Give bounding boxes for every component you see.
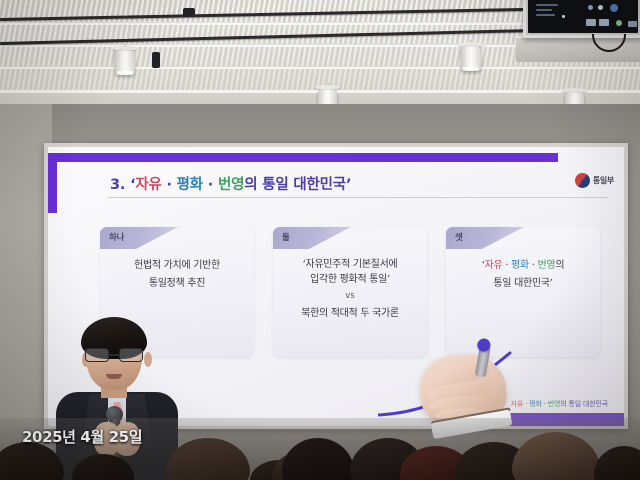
ministry-logo-text: 통일부 — [593, 175, 614, 186]
spotlight-lens — [463, 67, 478, 70]
ceiling-spotlight — [461, 40, 481, 72]
column-two-body: ‘자유민주적 기본질서에 입각한 평화적 통일’ vs 북한의 적대적 두 국가… — [273, 257, 427, 321]
slide-accent-bar-left — [48, 153, 57, 213]
glasses-lens-right — [119, 348, 143, 362]
slide-title-prosperity: 번영 — [218, 177, 244, 193]
column-two-line1: ‘자유민주적 기본질서에 — [278, 257, 422, 272]
taegeuk-icon — [575, 173, 590, 188]
spotlight-body — [461, 47, 481, 71]
device-screen-line — [536, 4, 558, 6]
column-three-sep1: · — [502, 260, 511, 271]
device-screen-block — [599, 19, 609, 26]
slide-title-free: 자유 — [135, 177, 161, 193]
column-three-sep2: · — [529, 260, 538, 271]
photo-scene: 3. ‘자유 · 평화 · 번영의 통일 대한민국’ 통일부 하나 헌법적 가치… — [0, 0, 640, 480]
ceiling-spotlight-dark — [152, 52, 160, 68]
presenter-mouth — [106, 374, 122, 379]
column-tab-three: 셋 — [446, 227, 524, 249]
column-two-line3: 북한의 적대적 두 국가론 — [278, 306, 422, 321]
footer-free: 자유 — [511, 400, 523, 408]
device-screen-block — [628, 21, 637, 27]
device-indicator-dot — [598, 5, 603, 10]
ceiling-seam — [0, 67, 640, 69]
column-one-body: 헌법적 가치에 기반한 통일정책 추진 — [100, 257, 254, 292]
track-mount — [183, 8, 195, 17]
slide-title-sep1: · — [162, 177, 177, 193]
device-indicator-dot — [562, 15, 565, 18]
device-indicator-dot — [588, 5, 593, 10]
column-tab-one-label: 하나 — [109, 231, 124, 243]
column-one-line1: 헌법적 가치에 기반한 — [105, 257, 249, 275]
device-indicator-dot — [610, 4, 618, 12]
audience: 2025년 4월 25일 — [0, 418, 640, 480]
device-screen-line — [536, 9, 552, 11]
column-two-line2: 입각한 평화적 통일’ — [278, 272, 422, 287]
slide-title: 3. ‘자유 · 평화 · 번영의 통일 대한민국’ — [110, 173, 351, 194]
glasses-icon — [84, 348, 144, 363]
column-one-line2: 통일정책 추진 — [105, 275, 249, 293]
column-three-prosperity: 번영 — [538, 260, 556, 271]
column-tab-two-label: 둘 — [282, 231, 290, 243]
spotlight-lens — [117, 71, 132, 74]
glasses-bridge — [109, 354, 119, 356]
column-tab-one: 하나 — [100, 227, 178, 249]
glasses-lens-left — [85, 348, 109, 362]
slide-column-two: 둘 ‘자유민주적 기본질서에 입각한 평화적 통일’ vs 북한의 적대적 두 … — [273, 227, 427, 357]
footer-peace: 평화 — [529, 400, 541, 408]
footer-tail: 의 통일 대한민국 — [560, 400, 608, 408]
column-three-tail: 의 — [555, 260, 564, 271]
slide-title-close-quote: ’ — [346, 177, 351, 193]
footer-prosperity: 번영 — [548, 400, 560, 408]
device-screen — [528, 0, 638, 33]
column-three-body: ‘자유 · 평화 · 번영의 통일 대한민국’ — [446, 257, 600, 292]
device-screen-block — [586, 19, 596, 26]
slide-footer: 자유 · 평화 · 번영의 통일 대한민국 — [511, 399, 608, 409]
ear-right — [144, 352, 152, 367]
column-three-peace: 평화 — [511, 260, 529, 271]
slide-title-sep2: · — [203, 177, 218, 193]
timestamp-overlay: 2025년 4월 25일 — [22, 426, 142, 447]
slide-accent-bar-top — [48, 153, 558, 162]
column-tab-three-label: 셋 — [455, 231, 463, 243]
column-three-line2: 통일 대한민국’ — [451, 275, 595, 293]
column-tab-two: 둘 — [273, 227, 351, 249]
slide-title-peace: 평화 — [177, 177, 203, 193]
slide-title-tail: 의 통일 대한민국 — [244, 177, 346, 193]
slide-title-number: 3. — [110, 177, 125, 193]
column-three-line1: ‘자유 · 평화 · 번영의 — [451, 257, 595, 275]
device-screen-line — [536, 14, 555, 16]
title-divider — [108, 197, 608, 198]
spotlight-body — [115, 51, 135, 75]
wall-display-device — [523, 0, 640, 38]
device-indicator-dot — [616, 20, 622, 26]
slide-column-three: 셋 ‘자유 · 평화 · 번영의 통일 대한민국’ — [446, 227, 600, 357]
column-three-free: 자유 — [485, 260, 503, 271]
ceiling-spotlight — [115, 44, 135, 76]
ministry-logo: 통일부 — [575, 173, 614, 188]
column-two-vs: vs — [278, 290, 422, 303]
